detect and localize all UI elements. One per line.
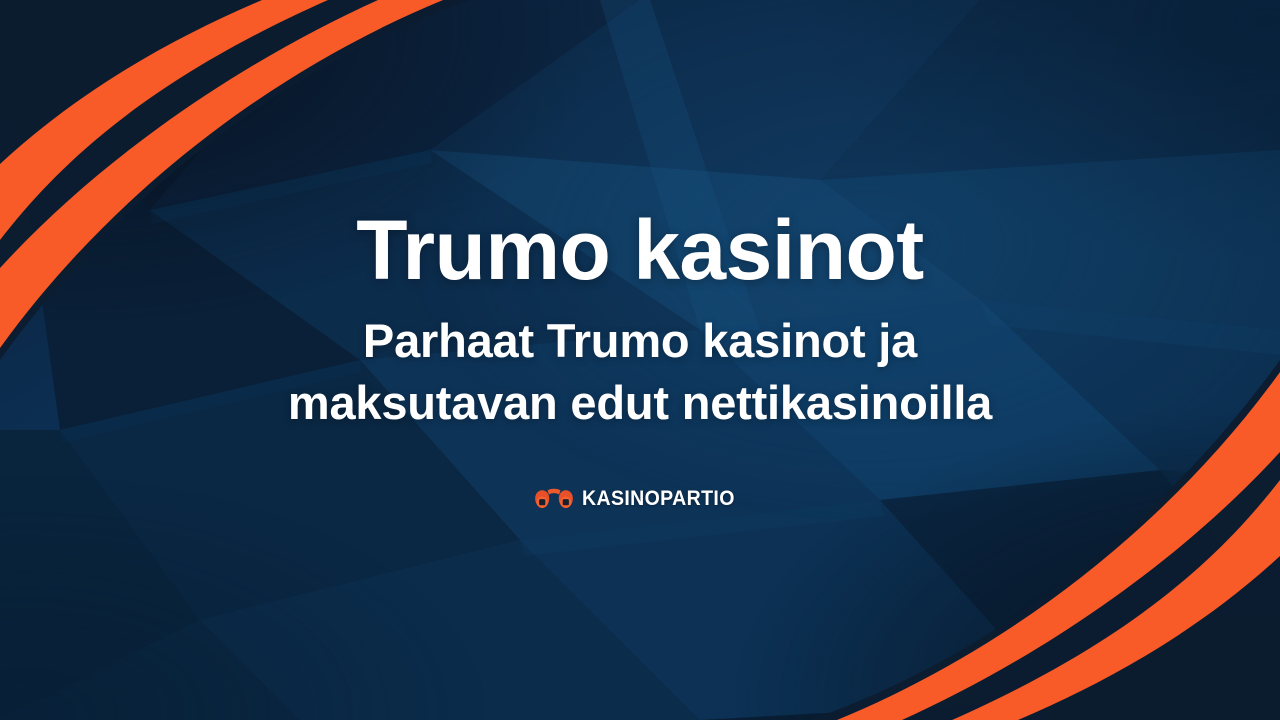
banner-content: Trumo kasinot Parhaat Trumo kasinot ja m… (0, 0, 1280, 720)
binoculars-icon (533, 486, 575, 512)
page-subtitle: Parhaat Trumo kasinot ja maksutavan edut… (288, 310, 992, 434)
promo-banner: Trumo kasinot Parhaat Trumo kasinot ja m… (0, 0, 1280, 720)
brand-logo-text: KASINOPARTIO (582, 487, 735, 511)
brand-logo[interactable]: KASINOPARTIO (533, 486, 746, 512)
page-subtitle-line-1: Parhaat Trumo kasinot ja (288, 310, 992, 372)
page-title: Trumo kasinot (356, 208, 924, 292)
page-subtitle-line-2: maksutavan edut nettikasinoilla (288, 372, 992, 434)
